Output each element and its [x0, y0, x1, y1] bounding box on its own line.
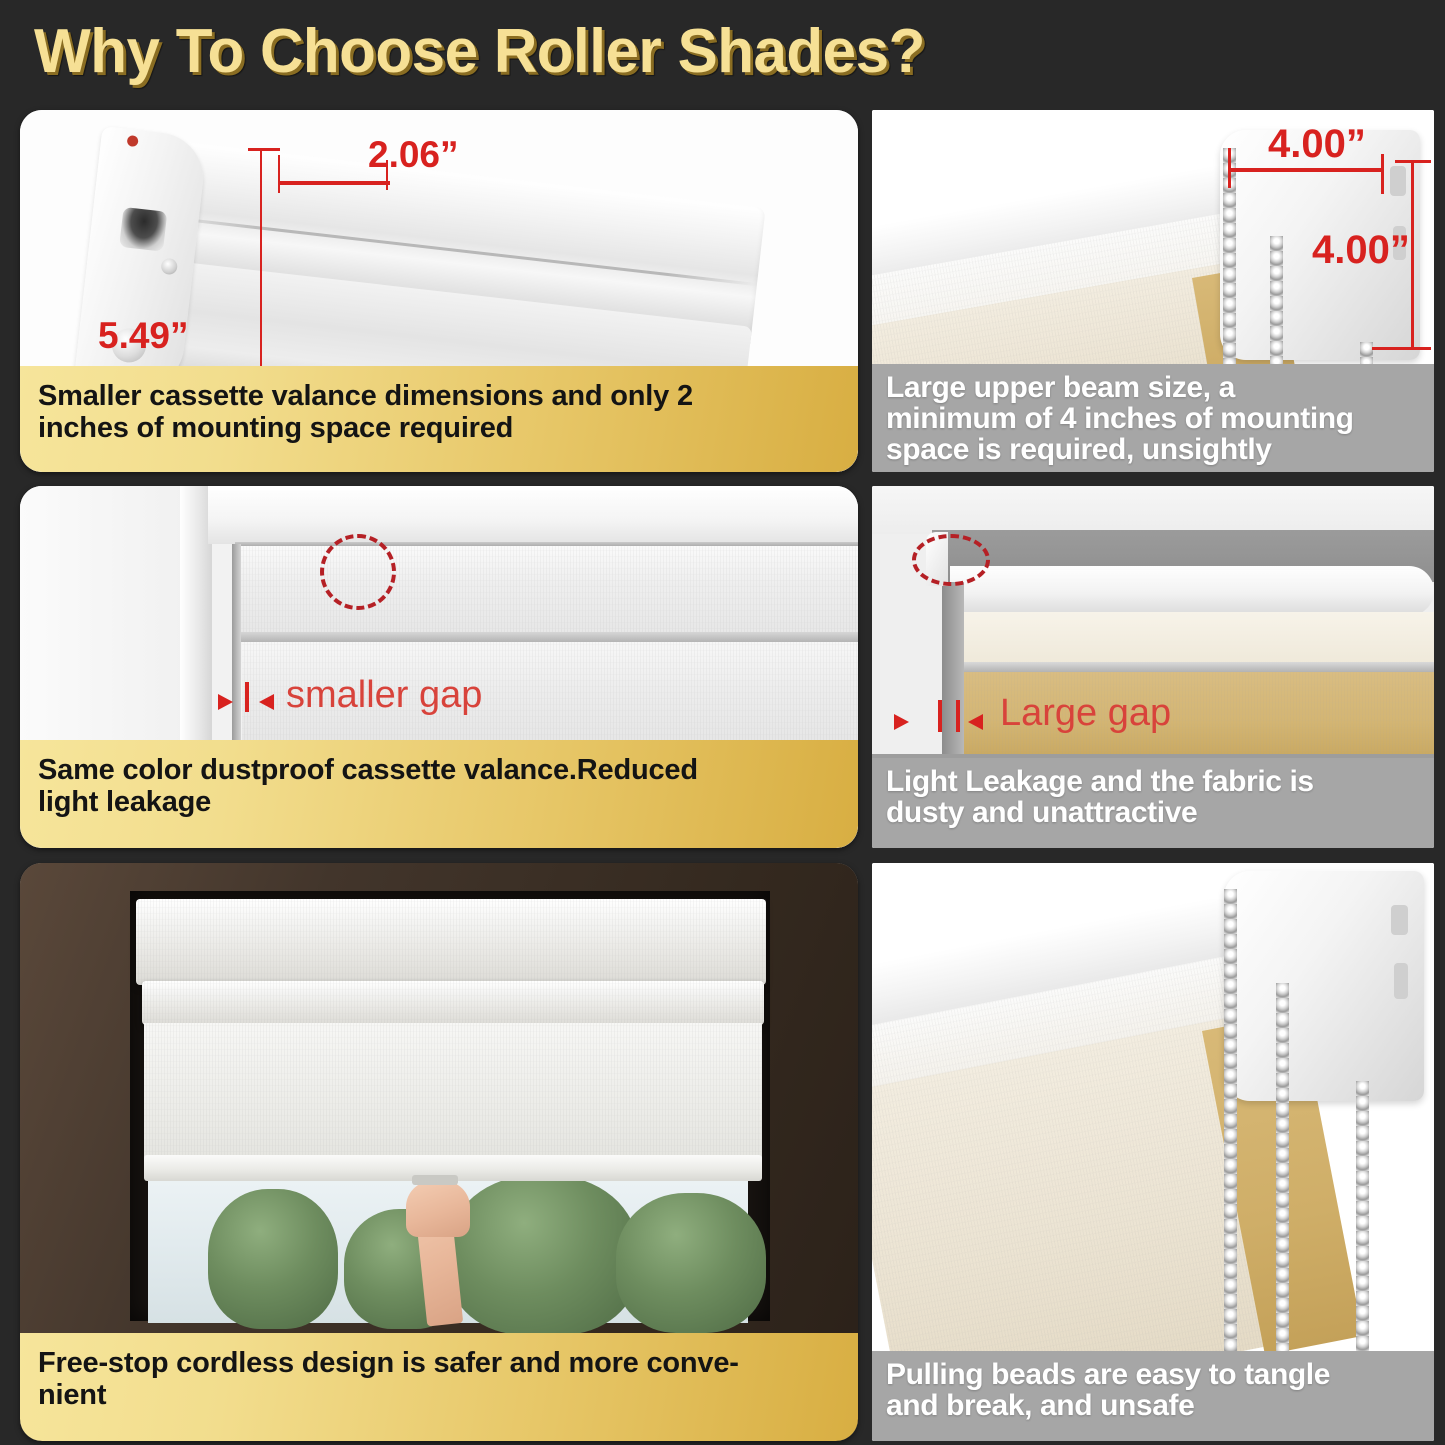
panel-caption-pulling-beads: Pulling beads are easy to tangle and bre…	[872, 1351, 1434, 1441]
tree	[208, 1189, 338, 1329]
caption-line: Free-stop cordless design is safer and m…	[38, 1347, 840, 1379]
valance-knob	[119, 207, 167, 252]
gap-tick	[938, 700, 942, 732]
caption-line: space is required, unsightly	[886, 434, 1422, 465]
infographic-canvas: Why To Choose Roller Shades?	[0, 0, 1445, 1445]
width-dimension-label: 2.06”	[368, 134, 459, 176]
page-title: Why To Choose Roller Shades?	[34, 16, 925, 87]
valance-marker-dot	[127, 135, 139, 147]
gap-arrow-left	[894, 714, 909, 730]
gap-tick	[245, 682, 249, 712]
fabric-edge	[956, 662, 1434, 672]
width-dimension-line	[278, 155, 280, 193]
bead-chain	[1224, 889, 1237, 1359]
panel-caption-large-upper-beam: Large upper beam size, a minimum of 4 in…	[872, 364, 1434, 472]
tree	[448, 1175, 638, 1335]
roller-tube-bad	[950, 566, 1434, 616]
caption-line: dusty and unattractive	[886, 797, 1422, 828]
panel-light-leakage: Large gap Light Leakage and the fabric i…	[872, 486, 1434, 848]
wall-above	[872, 486, 1434, 534]
caption-line: Large upper beam size, a	[886, 372, 1422, 403]
caption-line: Smaller cassette valance dimensions and …	[38, 380, 840, 412]
gap-arrow-right	[259, 694, 274, 710]
height-dimension-cap-bottom	[1372, 347, 1431, 350]
panel-caption-light-leakage: Light Leakage and the fabric is dusty an…	[872, 758, 1434, 848]
shade-fabric-body	[144, 1023, 762, 1169]
width-dimension-label: 4.00”	[1268, 122, 1366, 167]
width-dimension-bar	[1228, 168, 1384, 172]
pull-tab	[412, 1175, 458, 1185]
panel-grid: 2.06” 5.49” Smaller cassette valance dim…	[0, 108, 1445, 1445]
detail-highlight-circle	[320, 534, 396, 610]
caption-line: inches of mounting space required	[38, 412, 840, 444]
gap-callout-label: Large gap	[1000, 692, 1171, 735]
valance-small-screw	[160, 258, 178, 276]
cassette-lip	[235, 632, 858, 642]
tree	[616, 1193, 766, 1333]
shade-cassette-second	[142, 981, 764, 1025]
caption-line: light leakage	[38, 786, 840, 818]
panel-cordless-design: Free-stop cordless design is safer and m…	[20, 863, 858, 1441]
height-dimension-label: 4.00”	[1312, 228, 1410, 273]
gap-arrow-left	[218, 694, 233, 710]
bead-chain	[1356, 1081, 1369, 1359]
height-dimension-label: 5.49”	[98, 315, 189, 357]
shade-cassette-head	[136, 899, 766, 985]
panel-pulling-beads: Pulling beads are easy to tangle and bre…	[872, 863, 1434, 1441]
width-dimension-bar	[278, 181, 390, 185]
caption-line: Same color dustproof cassette valance.Re…	[38, 754, 840, 786]
height-dimension-bar	[1411, 160, 1414, 350]
panel-large-upper-beam: 4.00” 4.00” Large upper beam size, a min…	[872, 110, 1434, 472]
panel-caption-dustproof-valance: Same color dustproof cassette valance.Re…	[20, 740, 858, 848]
bracket-slot	[1391, 905, 1408, 935]
panel-dustproof-valance: smaller gap Same color dustproof cassett…	[20, 486, 858, 848]
panel-caption-cordless-design: Free-stop cordless design is safer and m…	[20, 1333, 858, 1441]
roller-bracket	[1224, 871, 1424, 1101]
bracket-slot	[1390, 166, 1406, 196]
width-dimension-right-tick	[1381, 154, 1384, 194]
bead-chain	[1276, 983, 1289, 1359]
gap-callout-label: smaller gap	[286, 674, 482, 717]
caption-line: minimum of 4 inches of mounting	[886, 403, 1422, 434]
caption-line: Pulling beads are easy to tangle	[886, 1359, 1422, 1390]
window-frame-top	[208, 486, 858, 544]
bracket-slot	[1394, 963, 1408, 999]
height-dimension-cap-top	[248, 148, 280, 151]
fabric-cream-band	[956, 612, 1434, 664]
hand-fingers	[406, 1181, 470, 1237]
wall-surface	[20, 486, 200, 746]
caption-line: and break, and unsafe	[886, 1390, 1422, 1421]
gap-tick	[956, 700, 960, 732]
gap-arrow-right	[968, 714, 983, 730]
detail-highlight-circle	[912, 534, 990, 586]
panel-caption-smaller-cassette: Smaller cassette valance dimensions and …	[20, 366, 858, 472]
height-dimension-cap-top	[1395, 160, 1431, 163]
light-gap	[232, 544, 241, 746]
panel-smaller-cassette: 2.06” 5.49” Smaller cassette valance dim…	[20, 110, 858, 472]
caption-line: nient	[38, 1379, 840, 1411]
large-light-gap	[942, 582, 964, 758]
caption-line: Light Leakage and the fabric is	[886, 766, 1422, 797]
